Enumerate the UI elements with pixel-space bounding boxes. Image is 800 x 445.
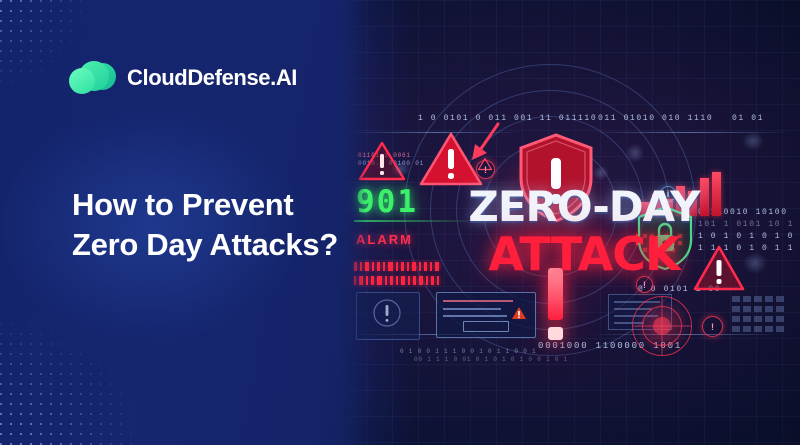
promotional-banner: CloudDefense.AI How to Prevent Zero Day … xyxy=(0,0,800,445)
dot-pattern-bottom-left xyxy=(0,259,226,445)
headline-line-2: Zero Day Attacks? xyxy=(72,225,362,265)
hero-artwork: 1 0 0101 0 011 001 11 011110 011 01010 0… xyxy=(340,0,800,445)
brand-name: CloudDefense.AI xyxy=(127,65,297,91)
brand-logo[interactable]: CloudDefense.AI xyxy=(68,60,297,96)
artwork-vignette xyxy=(340,0,800,445)
headline-line-1: How to Prevent xyxy=(72,185,362,225)
cloud-logo-icon xyxy=(68,60,116,96)
page-title: How to Prevent Zero Day Attacks? xyxy=(72,185,362,265)
